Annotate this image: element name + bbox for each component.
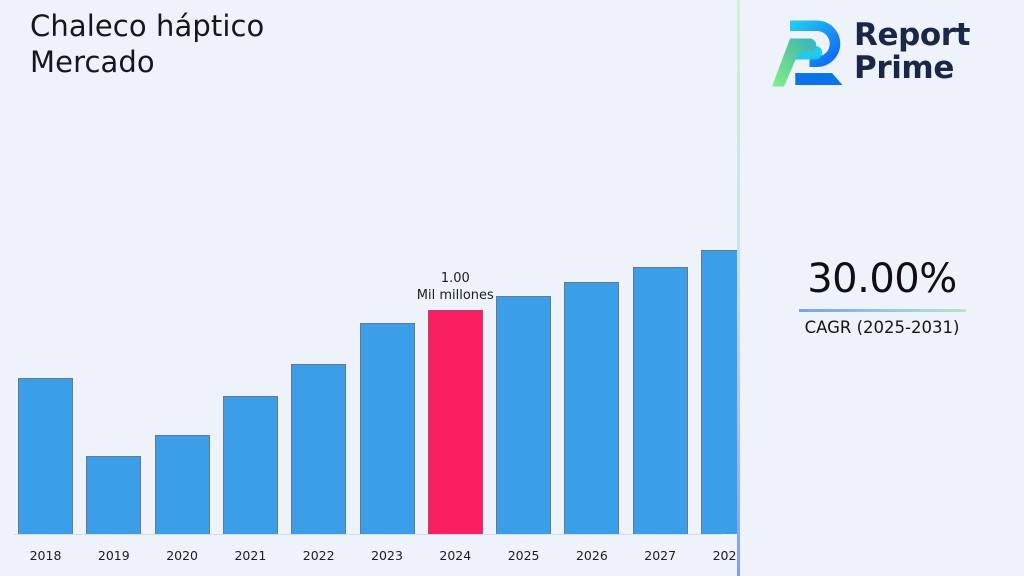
bar-2023[interactable] — [360, 323, 415, 534]
x-tick-label-2024: 2024 — [428, 548, 483, 563]
bar-rect-2020[interactable] — [155, 435, 210, 534]
bar-2020[interactable] — [155, 435, 210, 534]
x-tick-label-2021: 2021 — [223, 548, 278, 563]
bar-rect-2019[interactable] — [86, 456, 141, 534]
report-prime-wordmark: Report Prime — [854, 19, 970, 85]
bar-chart-plot: 1.00 Mil millones 6.27 Mil millones 2018… — [0, 0, 738, 576]
x-tick-label-2019: 2019 — [86, 548, 141, 563]
cagr-caption: CAGR (2025-2031) — [740, 317, 1024, 339]
x-tick-label-2025: 2025 — [496, 548, 551, 563]
bar-rect-2026[interactable] — [564, 282, 619, 534]
cagr-divider-rule — [799, 309, 966, 312]
bar-rect-2023[interactable] — [360, 323, 415, 534]
x-tick-label-2018: 2018 — [18, 548, 73, 563]
bar-2018[interactable] — [18, 378, 73, 534]
bar-2021[interactable] — [223, 396, 278, 534]
x-axis-line — [14, 534, 722, 535]
bar-2025[interactable] — [496, 296, 551, 534]
chart-panel: Chaleco háptico Mercado 1.00 Mil millone… — [0, 0, 738, 576]
bar-rect-2018[interactable] — [18, 378, 73, 534]
x-tick-label-2023: 2023 — [360, 548, 415, 563]
bar-rect-2025[interactable] — [496, 296, 551, 534]
bar-rect-2021[interactable] — [223, 396, 278, 534]
bar-rect-2027[interactable] — [633, 267, 688, 534]
cagr-value: 30.00% — [740, 256, 1024, 302]
bar-2019[interactable] — [86, 456, 141, 534]
x-tick-label-2020: 2020 — [155, 548, 210, 563]
cagr-block: 30.00% CAGR (2025-2031) — [740, 256, 1024, 339]
bar-2024[interactable] — [428, 310, 483, 534]
bar-2026[interactable] — [564, 282, 619, 534]
report-prime-mark-icon — [770, 16, 846, 88]
summary-panel: Report Prime 30.00% CAGR (2025-2031) — [740, 0, 1024, 576]
x-tick-label-2027: 2027 — [633, 548, 688, 563]
x-tick-label-2022: 2022 — [291, 548, 346, 563]
bar-2022[interactable] — [291, 364, 346, 534]
report-prime-logo: Report Prime — [770, 12, 1000, 92]
bar-2027[interactable] — [633, 267, 688, 534]
bar-rect-2024[interactable] — [428, 310, 483, 534]
bar-rect-2022[interactable] — [291, 364, 346, 534]
x-tick-label-2026: 2026 — [564, 548, 619, 563]
